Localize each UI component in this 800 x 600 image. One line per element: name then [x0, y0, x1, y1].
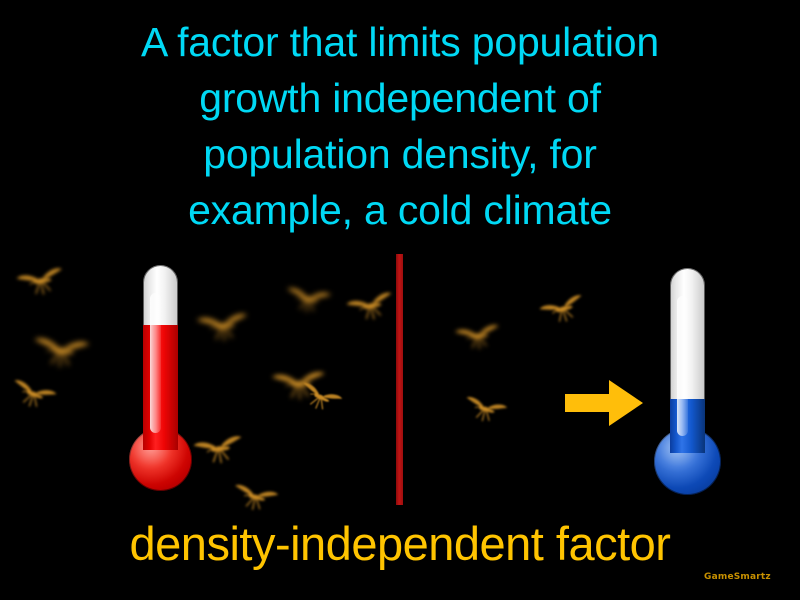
- flashcard: A factor that limits population growth i…: [0, 0, 800, 600]
- mosquito-icon: [460, 391, 509, 429]
- mosquito-icon: [14, 262, 68, 303]
- mosquito-icon: [31, 331, 92, 373]
- warm-thermometer-fill: [143, 325, 178, 450]
- mosquito-icon: [294, 377, 345, 420]
- watermark: GameSmartz: [704, 572, 771, 582]
- term-text: density-independent factor: [0, 515, 800, 573]
- mosquito-icon: [191, 429, 247, 470]
- mosquito-icon: [536, 289, 589, 332]
- mosquito-icon: [229, 479, 280, 518]
- vertical-divider: [396, 254, 403, 505]
- mosquito-icon: [6, 374, 59, 417]
- right-arrow-icon: [565, 379, 643, 427]
- cold-thermometer-tube: [670, 268, 705, 453]
- warm-thermometer-tube: [143, 265, 178, 450]
- mosquito-icon: [195, 307, 251, 347]
- cold-thermometer-fill: [670, 399, 705, 453]
- mosquito-icon: [453, 319, 503, 355]
- definition-text: A factor that limits population growth i…: [0, 14, 800, 238]
- mosquito-icon: [344, 286, 398, 328]
- mosquito-icon: [283, 282, 333, 318]
